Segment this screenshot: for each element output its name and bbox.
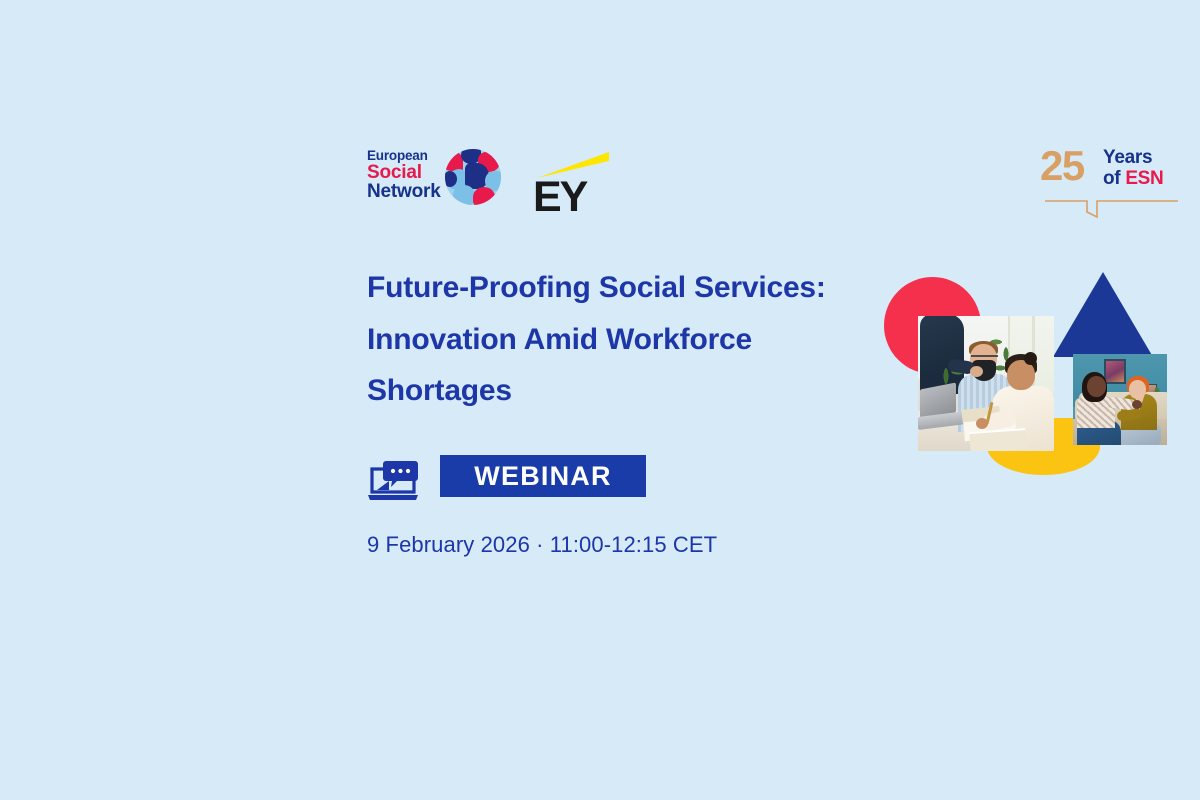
anniversary-esn-label: ESN [1125, 168, 1163, 189]
page-title: Future-Proofing Social Services: Innovat… [367, 262, 887, 417]
webinar-promo-poster: European Social Network EY 25 [0, 0, 1200, 800]
ey-logo[interactable]: EY [530, 146, 616, 220]
navy-triangle-shape [1053, 272, 1153, 357]
speech-bubble-globe-icon [445, 149, 501, 205]
photo-counseling-session [1073, 354, 1167, 445]
photo-office-colleagues-laptop [918, 316, 1054, 451]
anniversary-of-label: of [1103, 168, 1125, 189]
status-badge: WEBINAR [440, 455, 646, 497]
ey-wordmark: EY [533, 176, 586, 219]
laptop-chat-bubble-icon [367, 459, 419, 503]
anniversary-of-esn-label: of ESN [1103, 169, 1163, 189]
anniversary-wordmark: Years of ESN [1103, 148, 1163, 189]
25-years-of-esn-logo[interactable]: 25 Years of ESN [1040, 145, 1185, 220]
anniversary-number: 25 [1040, 145, 1084, 187]
european-social-network-logo[interactable]: European Social Network [367, 148, 497, 216]
image-collage [870, 258, 1200, 513]
event-datetime: 9 February 2026 · 11:00-12:15 CET [367, 531, 717, 560]
speech-bubble-tail-icon [1045, 199, 1178, 219]
anniversary-years-label: Years [1103, 148, 1163, 168]
webinar-badge-label: WEBINAR [474, 463, 611, 490]
